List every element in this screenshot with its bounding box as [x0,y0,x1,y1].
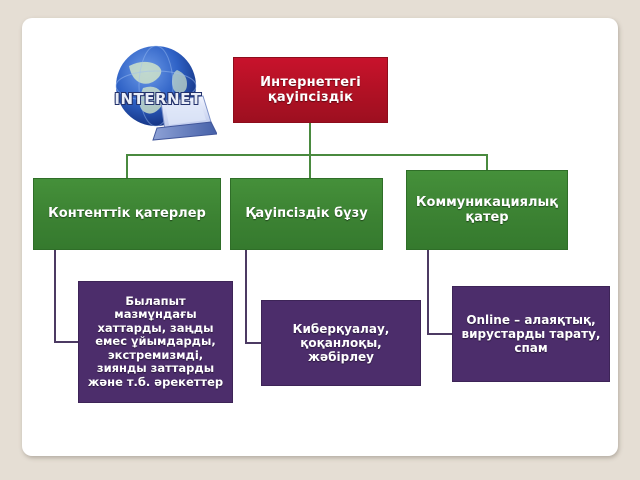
connector-green2-purple2 [246,250,261,343]
node-detail-content-threats[interactable]: Былапыт мазмұндағы хаттарды, заңды емес … [78,281,233,403]
node-detail-communication-threat[interactable]: Online – алаяқтық, вирустарды тарату, сп… [452,286,610,382]
internet-globe-laptop-logo: INTERNET [99,36,217,142]
connector-green1-purple1 [55,250,78,342]
connector-green3-purple3 [428,250,452,334]
node-detail-security-breach[interactable]: Киберқуалау, қоқанлоқы, жәбірлеу [261,300,421,386]
node-category-communication-threat[interactable]: Коммуникациялық қатер [406,170,568,250]
node-category-content-threats[interactable]: Контенттік қатерлер [33,178,221,250]
node-category-security-breach[interactable]: Қауіпсіздік бұзу [230,178,383,250]
logo-wordmark: INTERNET [107,90,209,108]
node-root-internet-security[interactable]: Интернеттегі қауіпсіздік [233,57,388,123]
